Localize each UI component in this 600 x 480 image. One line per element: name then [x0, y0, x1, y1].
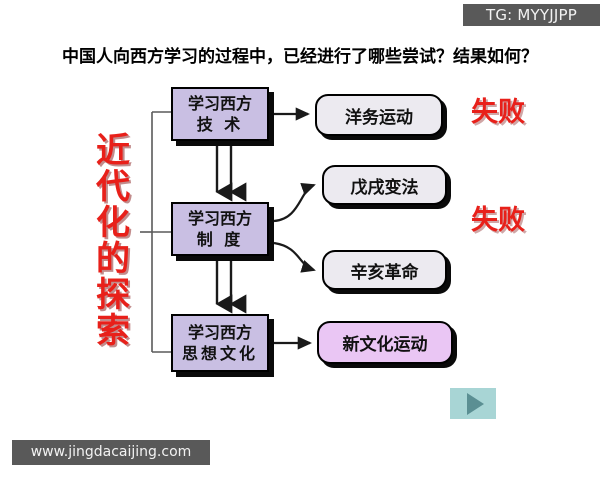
event-box-xinhai-revolution[interactable]: 辛亥革命 [322, 250, 447, 290]
slide-canvas: TG: MYYJJPP 中国人向西方学习的过程中，已经进行了哪些尝试？结果如何？… [0, 0, 600, 480]
vertical-heading-char-4: 的 [92, 241, 134, 277]
stage-box-technology-line2: 技 术 [197, 114, 244, 135]
event-box-yangwu-movement[interactable]: 洋务运动 [315, 94, 443, 136]
stage-box-system-line2: 制 度 [197, 229, 244, 250]
stage-box-technology-line1: 学习西方 [188, 93, 252, 114]
stage-box-culture-line1: 学习西方 [188, 322, 252, 343]
play-triangle-icon [467, 393, 484, 415]
vertical-heading-char-6: 索 [92, 313, 134, 349]
result-label-failure-2: 失败 [471, 206, 525, 236]
vertical-heading-char-3: 化 [92, 205, 134, 241]
stage-box-system[interactable]: 学习西方 制 度 [171, 202, 269, 256]
stage-box-culture-line2: 思想文化 [182, 343, 258, 364]
event-box-wuxu-reform[interactable]: 戊戌变法 [322, 165, 447, 205]
connector-lines [0, 0, 600, 480]
vertical-heading: 近 代 化 的 探 索 [92, 133, 134, 349]
result-label-failure-1: 失败 [471, 98, 525, 128]
play-button[interactable] [450, 388, 496, 419]
watermark-tag: TG: MYYJJPP [463, 4, 600, 26]
stage-box-technology[interactable]: 学习西方 技 术 [171, 87, 269, 141]
watermark-url: www.jingdacaijing.com [12, 440, 210, 465]
stage-box-culture[interactable]: 学习西方 思想文化 [171, 314, 269, 372]
event-box-new-culture-movement[interactable]: 新文化运动 [317, 321, 453, 364]
vertical-heading-char-2: 代 [92, 169, 134, 205]
stage-box-system-line1: 学习西方 [188, 208, 252, 229]
vertical-heading-char-1: 近 [92, 133, 134, 169]
slide-title: 中国人向西方学习的过程中，已经进行了哪些尝试？结果如何？ [0, 42, 600, 67]
vertical-heading-char-5: 探 [92, 277, 134, 313]
